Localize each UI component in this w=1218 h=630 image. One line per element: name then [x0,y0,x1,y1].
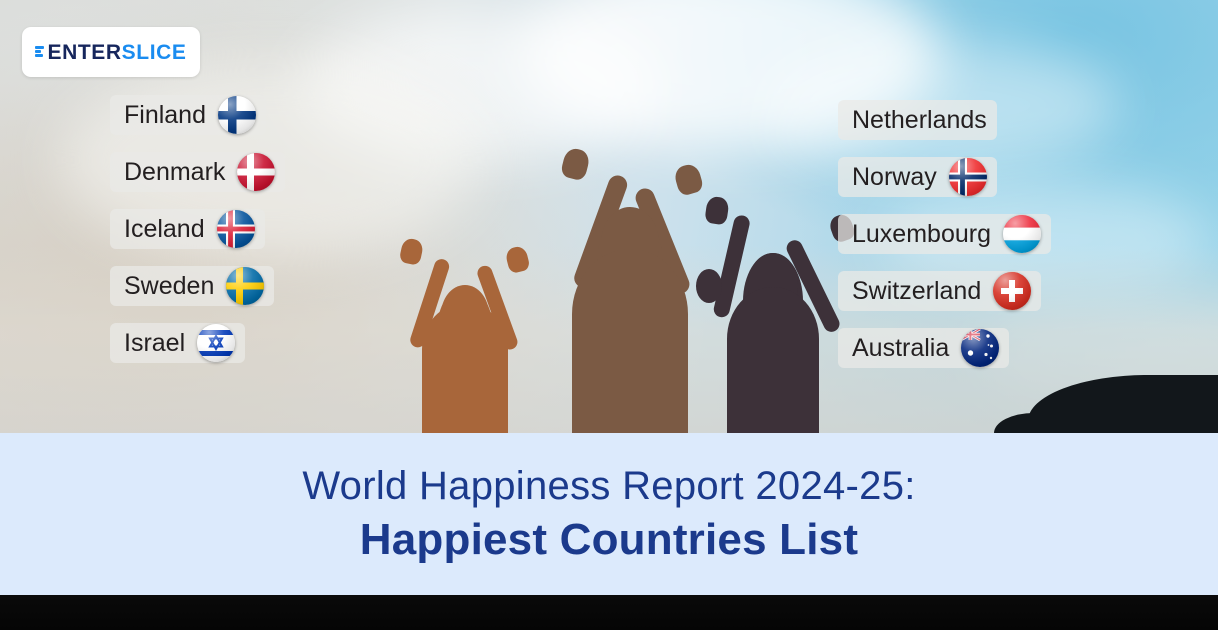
fist-icon [704,196,730,226]
country-name: Finland [124,103,206,128]
enterslice-logo[interactable]: ENTERSLICE [22,27,200,77]
country-item[interactable]: Luxembourg [838,214,1051,254]
country-name: Sweden [124,274,214,299]
flag-sweden-icon [226,267,264,305]
fist-icon [672,162,704,197]
silhouette-group [390,125,860,435]
country-item[interactable]: Norway [838,157,997,197]
flag-switzerland-icon [993,272,1031,310]
flag-denmark-icon [237,153,275,191]
flag-israel-icon [197,324,235,362]
flag-luxembourg-icon [1003,215,1041,253]
country-item[interactable]: Denmark [110,152,285,192]
country-name: Iceland [124,217,205,242]
torso [572,249,688,435]
silhouette-child-left [390,217,540,435]
logo-text-primary: ENTER [47,41,121,64]
title-line-1: World Happiness Report 2024-25: [302,464,915,509]
ponytail [696,269,722,303]
flag-finland-icon [218,96,256,134]
country-list-right: Netherlands Norway Luxembourg Switzerlan… [838,100,1051,385]
torso [727,287,819,435]
title-band: World Happiness Report 2024-25: Happiest… [0,433,1218,595]
fist-icon [504,245,530,274]
country-item[interactable]: Netherlands [838,100,997,140]
silhouette-child-right [690,195,855,435]
torso [422,303,508,435]
country-item[interactable]: Sweden [110,266,274,306]
flag-iceland-icon [217,210,255,248]
country-name: Switzerland [852,279,981,304]
flag-norway-icon [949,158,987,196]
country-name: Luxembourg [852,222,991,247]
logo-wordmark: ENTERSLICE [35,42,186,63]
fist-icon [399,237,425,266]
country-item[interactable]: Finland [110,95,266,135]
country-name: Australia [852,336,949,361]
flag-australia-icon [961,329,999,367]
country-name: Israel [124,331,185,356]
logo-text-secondary: SLICE [122,41,187,64]
country-name: Norway [852,165,937,190]
logo-mark-icon [35,46,46,61]
country-item[interactable]: Australia [838,328,1009,368]
poster: ENTERSLICE Finland Denmark Iceland Swede… [0,0,1218,630]
footer-strip [0,595,1218,630]
country-list-left: Finland Denmark Iceland Sweden Israel [110,95,285,380]
title-line-2: Happiest Countries List [360,515,858,564]
country-item[interactable]: Switzerland [838,271,1041,311]
country-name: Netherlands [852,108,987,133]
country-item[interactable]: Israel [110,323,245,363]
country-name: Denmark [124,160,225,185]
country-item[interactable]: Iceland [110,209,265,249]
fist-icon [560,146,592,181]
